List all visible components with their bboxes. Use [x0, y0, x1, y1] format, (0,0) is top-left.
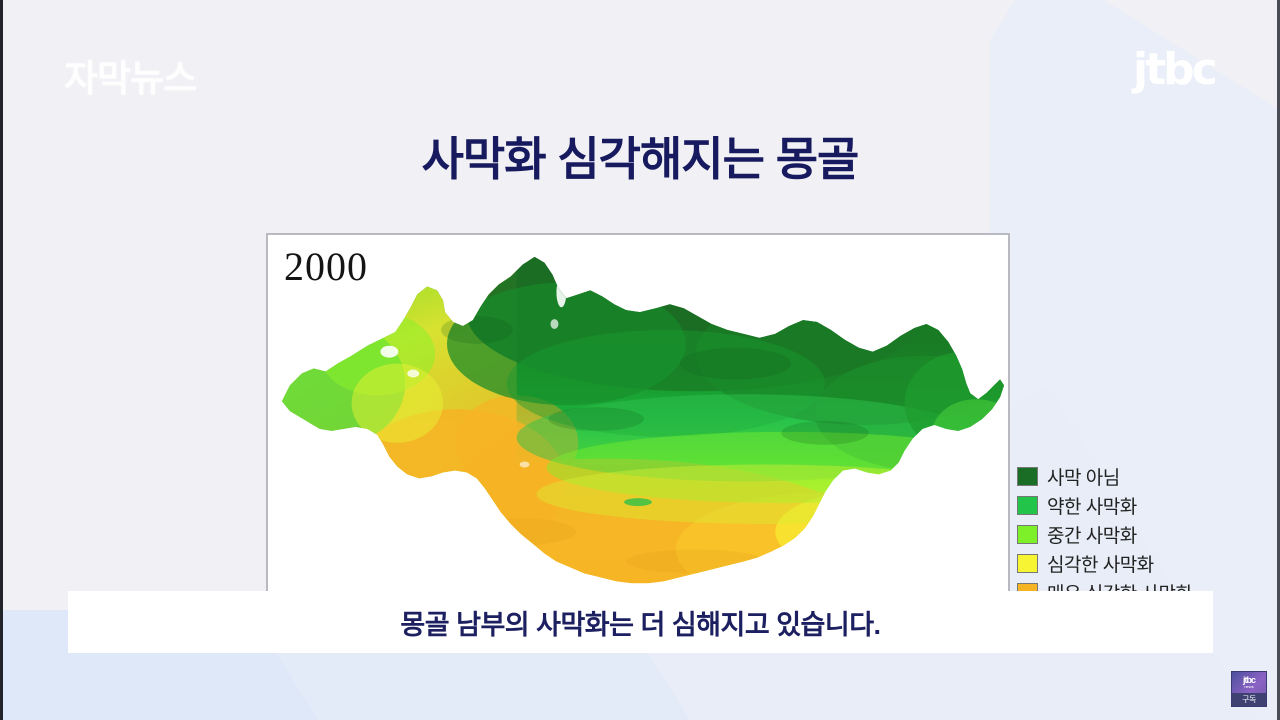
- badge-brand: jtbc news: [1232, 672, 1266, 693]
- subtitle-bar: 몽골 남부의 사막화는 더 심해지고 있습니다.: [68, 591, 1213, 653]
- frame-edge-left: [0, 0, 3, 720]
- map-panel: 2000: [266, 233, 1010, 605]
- badge-subscribe-text: 구독: [1242, 694, 1256, 705]
- legend-label: 사막 아님: [1047, 463, 1120, 490]
- map-country-shape: [268, 235, 1008, 603]
- legend-item-2: 중간 사막화: [1017, 520, 1267, 549]
- page-title: 사막화 심각해지는 몽골: [0, 123, 1280, 189]
- subtitle-text: 몽골 남부의 사막화는 더 심해지고 있습니다.: [400, 603, 880, 642]
- legend-item-1: 약한 사막화: [1017, 491, 1267, 520]
- map-legend: 사막 아님 약한 사막화 중간 사막화 심각한 사막화 매우 심각한 사막화: [1017, 462, 1267, 607]
- program-watermark: 자막뉴스: [64, 48, 196, 102]
- legend-swatch-icon: [1017, 554, 1038, 573]
- legend-label: 중간 사막화: [1047, 521, 1137, 548]
- subscribe-badge[interactable]: jtbc news 구독: [1231, 671, 1267, 707]
- legend-swatch-icon: [1017, 496, 1038, 515]
- legend-swatch-icon: [1017, 467, 1038, 486]
- map-year-label: 2000: [284, 243, 368, 290]
- legend-label: 약한 사막화: [1047, 492, 1137, 519]
- legend-item-0: 사막 아님: [1017, 462, 1267, 491]
- legend-label: 심각한 사막화: [1047, 550, 1154, 577]
- mongolia-desertification-map: [268, 235, 1008, 603]
- badge-news-text: news: [1244, 685, 1253, 689]
- jtbc-logo: jtbc: [1133, 48, 1215, 92]
- badge-action[interactable]: 구독: [1232, 693, 1266, 706]
- legend-swatch-icon: [1017, 525, 1038, 544]
- legend-item-3: 심각한 사막화: [1017, 549, 1267, 578]
